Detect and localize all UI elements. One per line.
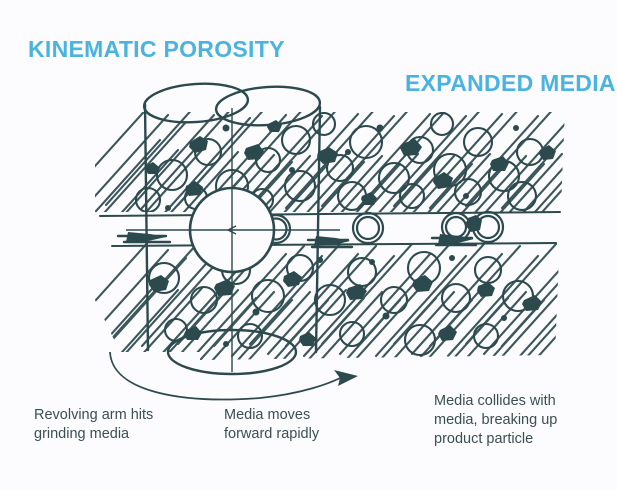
caption-revolving-arm: Revolving arm hits grinding media xyxy=(34,406,153,444)
slide-canvas: KINEMATIC POROSITY EXPANDED MEDIA Revolv… xyxy=(0,0,617,490)
expanded-media-title: EXPANDED MEDIA xyxy=(405,70,616,97)
page-title: KINEMATIC POROSITY xyxy=(28,36,285,63)
rotation-arrow xyxy=(110,352,358,399)
media-field xyxy=(60,105,616,400)
caption-media-moves: Media moves forward rapidly xyxy=(224,406,319,444)
caption-media-collides: Media collides with media, breaking up p… xyxy=(434,392,557,449)
